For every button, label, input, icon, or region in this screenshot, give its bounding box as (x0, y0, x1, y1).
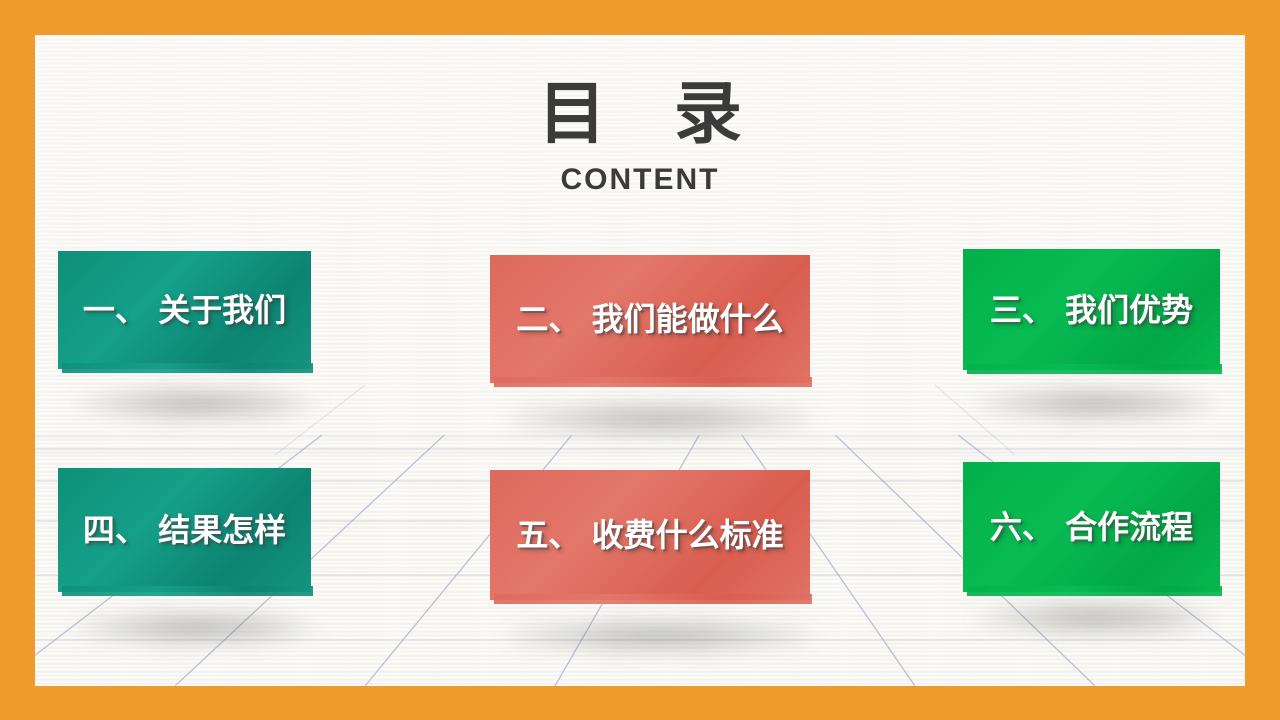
card-shadow-5 (505, 619, 815, 653)
content-card-5-label: 五、 收费什么标准 (516, 519, 783, 551)
card-shadow-2 (505, 402, 815, 436)
content-card-5[interactable]: 五、 收费什么标准 (490, 470, 810, 600)
slide-canvas: 目 录 CONTENT 一、 关于我们 二、 我们能做什么 三、 我们优势 四、… (0, 0, 1280, 720)
content-card-2[interactable]: 二、 我们能做什么 (490, 255, 810, 383)
slide-inner-panel: 目 录 CONTENT 一、 关于我们 二、 我们能做什么 三、 我们优势 四、… (35, 35, 1245, 686)
content-card-3[interactable]: 三、 我们优势 (963, 249, 1220, 370)
content-card-1[interactable]: 一、 关于我们 (58, 251, 311, 369)
card-shadow-6 (975, 601, 1220, 635)
content-card-6-label: 六、 合作流程 (990, 511, 1193, 543)
page-title: 目 录 (35, 81, 1245, 149)
content-card-6[interactable]: 六、 合作流程 (963, 462, 1220, 592)
content-card-1-label: 一、 关于我们 (83, 294, 286, 326)
content-card-4[interactable]: 四、 结果怎样 (58, 468, 311, 592)
card-shadow-4 (75, 611, 320, 645)
content-card-4-label: 四、 结果怎样 (83, 514, 286, 546)
content-card-3-label: 三、 我们优势 (990, 294, 1193, 326)
content-card-2-label: 二、 我们能做什么 (516, 303, 783, 335)
card-shadow-3 (975, 387, 1220, 421)
page-subtitle: CONTENT (35, 163, 1245, 197)
card-shadow-1 (75, 387, 320, 421)
title-block: 目 录 CONTENT (35, 81, 1245, 197)
